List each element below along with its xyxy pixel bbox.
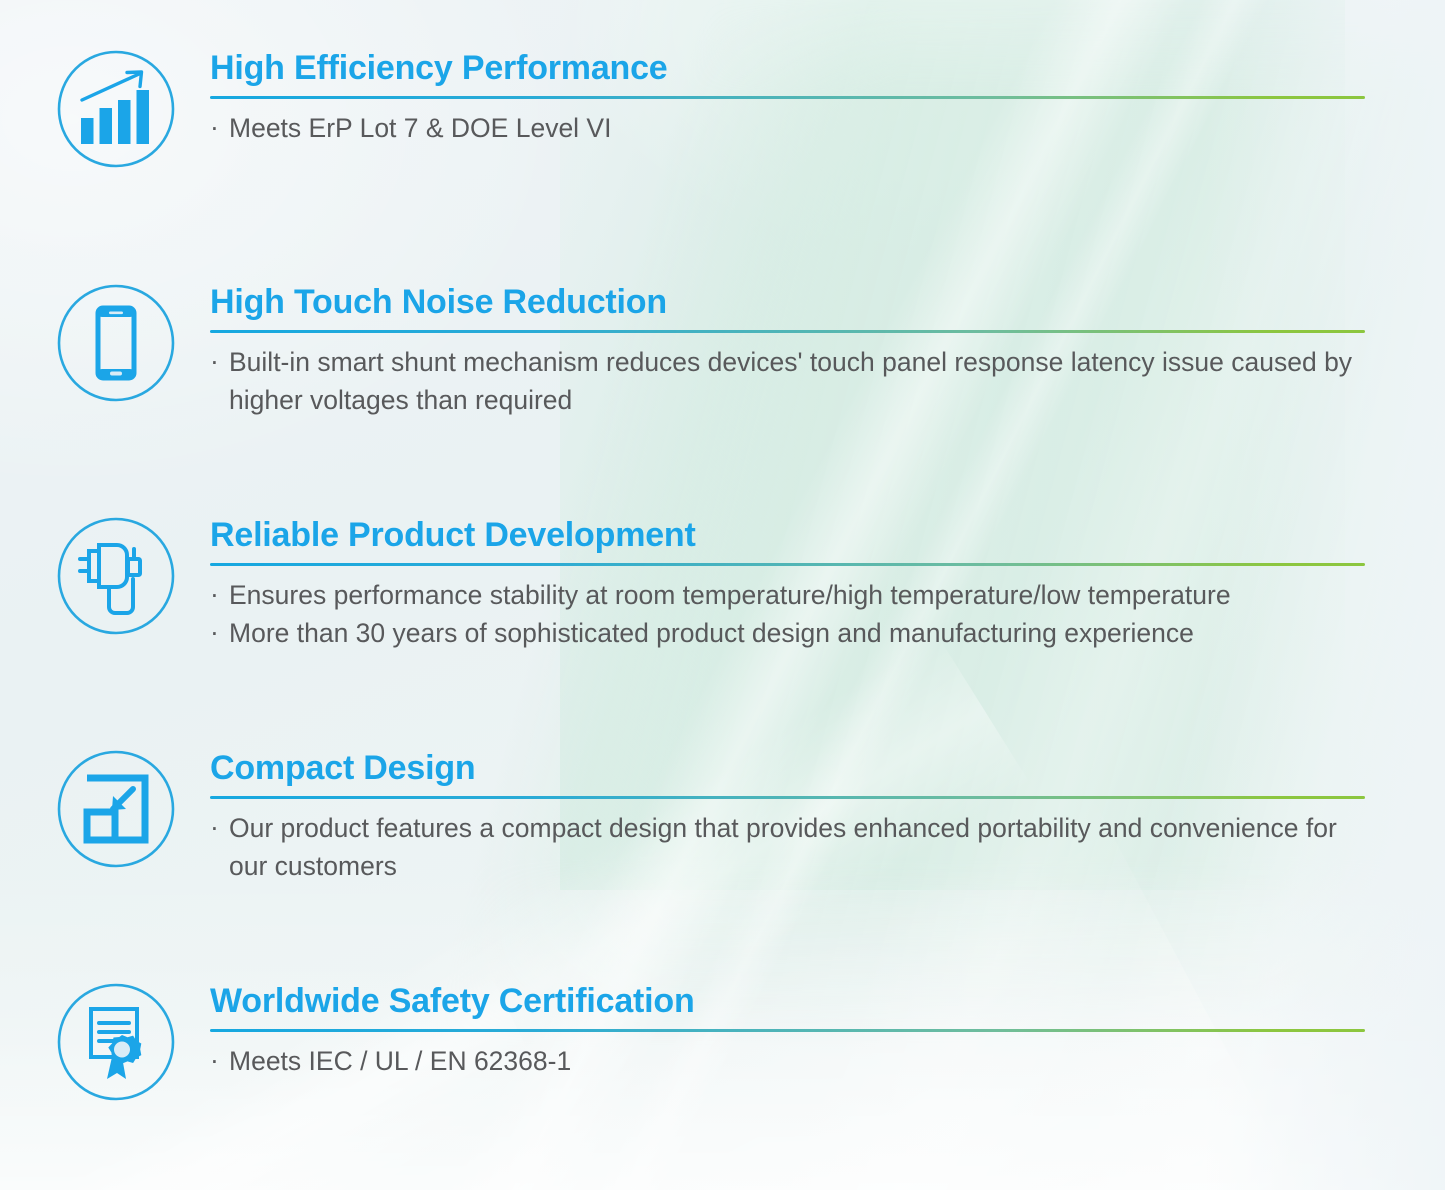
feature-item-high-touch-noise-reduction: High Touch Noise Reduction Built-in smar… <box>0 282 1445 419</box>
feature-bullet: More than 30 years of sophisticated prod… <box>210 614 1375 652</box>
feature-bullets: Our product features a compact design th… <box>210 809 1375 885</box>
feature-divider <box>210 96 1365 99</box>
feature-item-worldwide-safety-certification: Worldwide Safety Certification Meets IEC… <box>0 981 1445 1103</box>
feature-item-reliable-product-development: Reliable Product Development Ensures per… <box>0 515 1445 652</box>
bar-chart-growth-icon <box>55 48 177 170</box>
feature-divider <box>210 330 1365 333</box>
feature-title: Compact Design <box>210 748 1375 788</box>
feature-body: High Touch Noise Reduction Built-in smar… <box>210 282 1445 419</box>
feature-bullets: Meets ErP Lot 7 & DOE Level VI <box>210 109 1375 147</box>
feature-icon-container <box>52 515 180 637</box>
power-adapter-icon <box>55 515 177 637</box>
feature-icon-container <box>52 981 180 1103</box>
feature-icon-container <box>52 282 180 404</box>
feature-title: High Touch Noise Reduction <box>210 282 1375 322</box>
certificate-award-icon <box>55 981 177 1103</box>
feature-highlights-page: High Efficiency Performance Meets ErP Lo… <box>0 0 1445 1190</box>
feature-bullets: Meets IEC / UL / EN 62368-1 <box>210 1042 1375 1080</box>
feature-bullet: Our product features a compact design th… <box>210 809 1375 885</box>
feature-bullet: Ensures performance stability at room te… <box>210 576 1375 614</box>
feature-title: Reliable Product Development <box>210 515 1375 555</box>
feature-divider <box>210 563 1365 566</box>
feature-bullet: Meets ErP Lot 7 & DOE Level VI <box>210 109 1375 147</box>
feature-icon-container <box>52 748 180 870</box>
feature-item-compact-design: Compact Design Our product features a co… <box>0 748 1445 885</box>
feature-bullets: Built-in smart shunt mechanism reduces d… <box>210 343 1375 419</box>
feature-divider <box>210 796 1365 799</box>
feature-body: Compact Design Our product features a co… <box>210 748 1445 885</box>
feature-icon-container <box>52 48 180 170</box>
feature-bullet: Meets IEC / UL / EN 62368-1 <box>210 1042 1375 1080</box>
feature-title: High Efficiency Performance <box>210 48 1375 88</box>
feature-body: Worldwide Safety Certification Meets IEC… <box>210 981 1445 1080</box>
feature-title: Worldwide Safety Certification <box>210 981 1375 1021</box>
compact-resize-icon <box>55 748 177 870</box>
smartphone-icon <box>55 282 177 404</box>
feature-divider <box>210 1029 1365 1032</box>
feature-body: High Efficiency Performance Meets ErP Lo… <box>210 48 1445 147</box>
feature-item-high-efficiency-performance: High Efficiency Performance Meets ErP Lo… <box>0 48 1445 170</box>
feature-bullet: Built-in smart shunt mechanism reduces d… <box>210 343 1375 419</box>
feature-body: Reliable Product Development Ensures per… <box>210 515 1445 652</box>
feature-bullets: Ensures performance stability at room te… <box>210 576 1375 652</box>
